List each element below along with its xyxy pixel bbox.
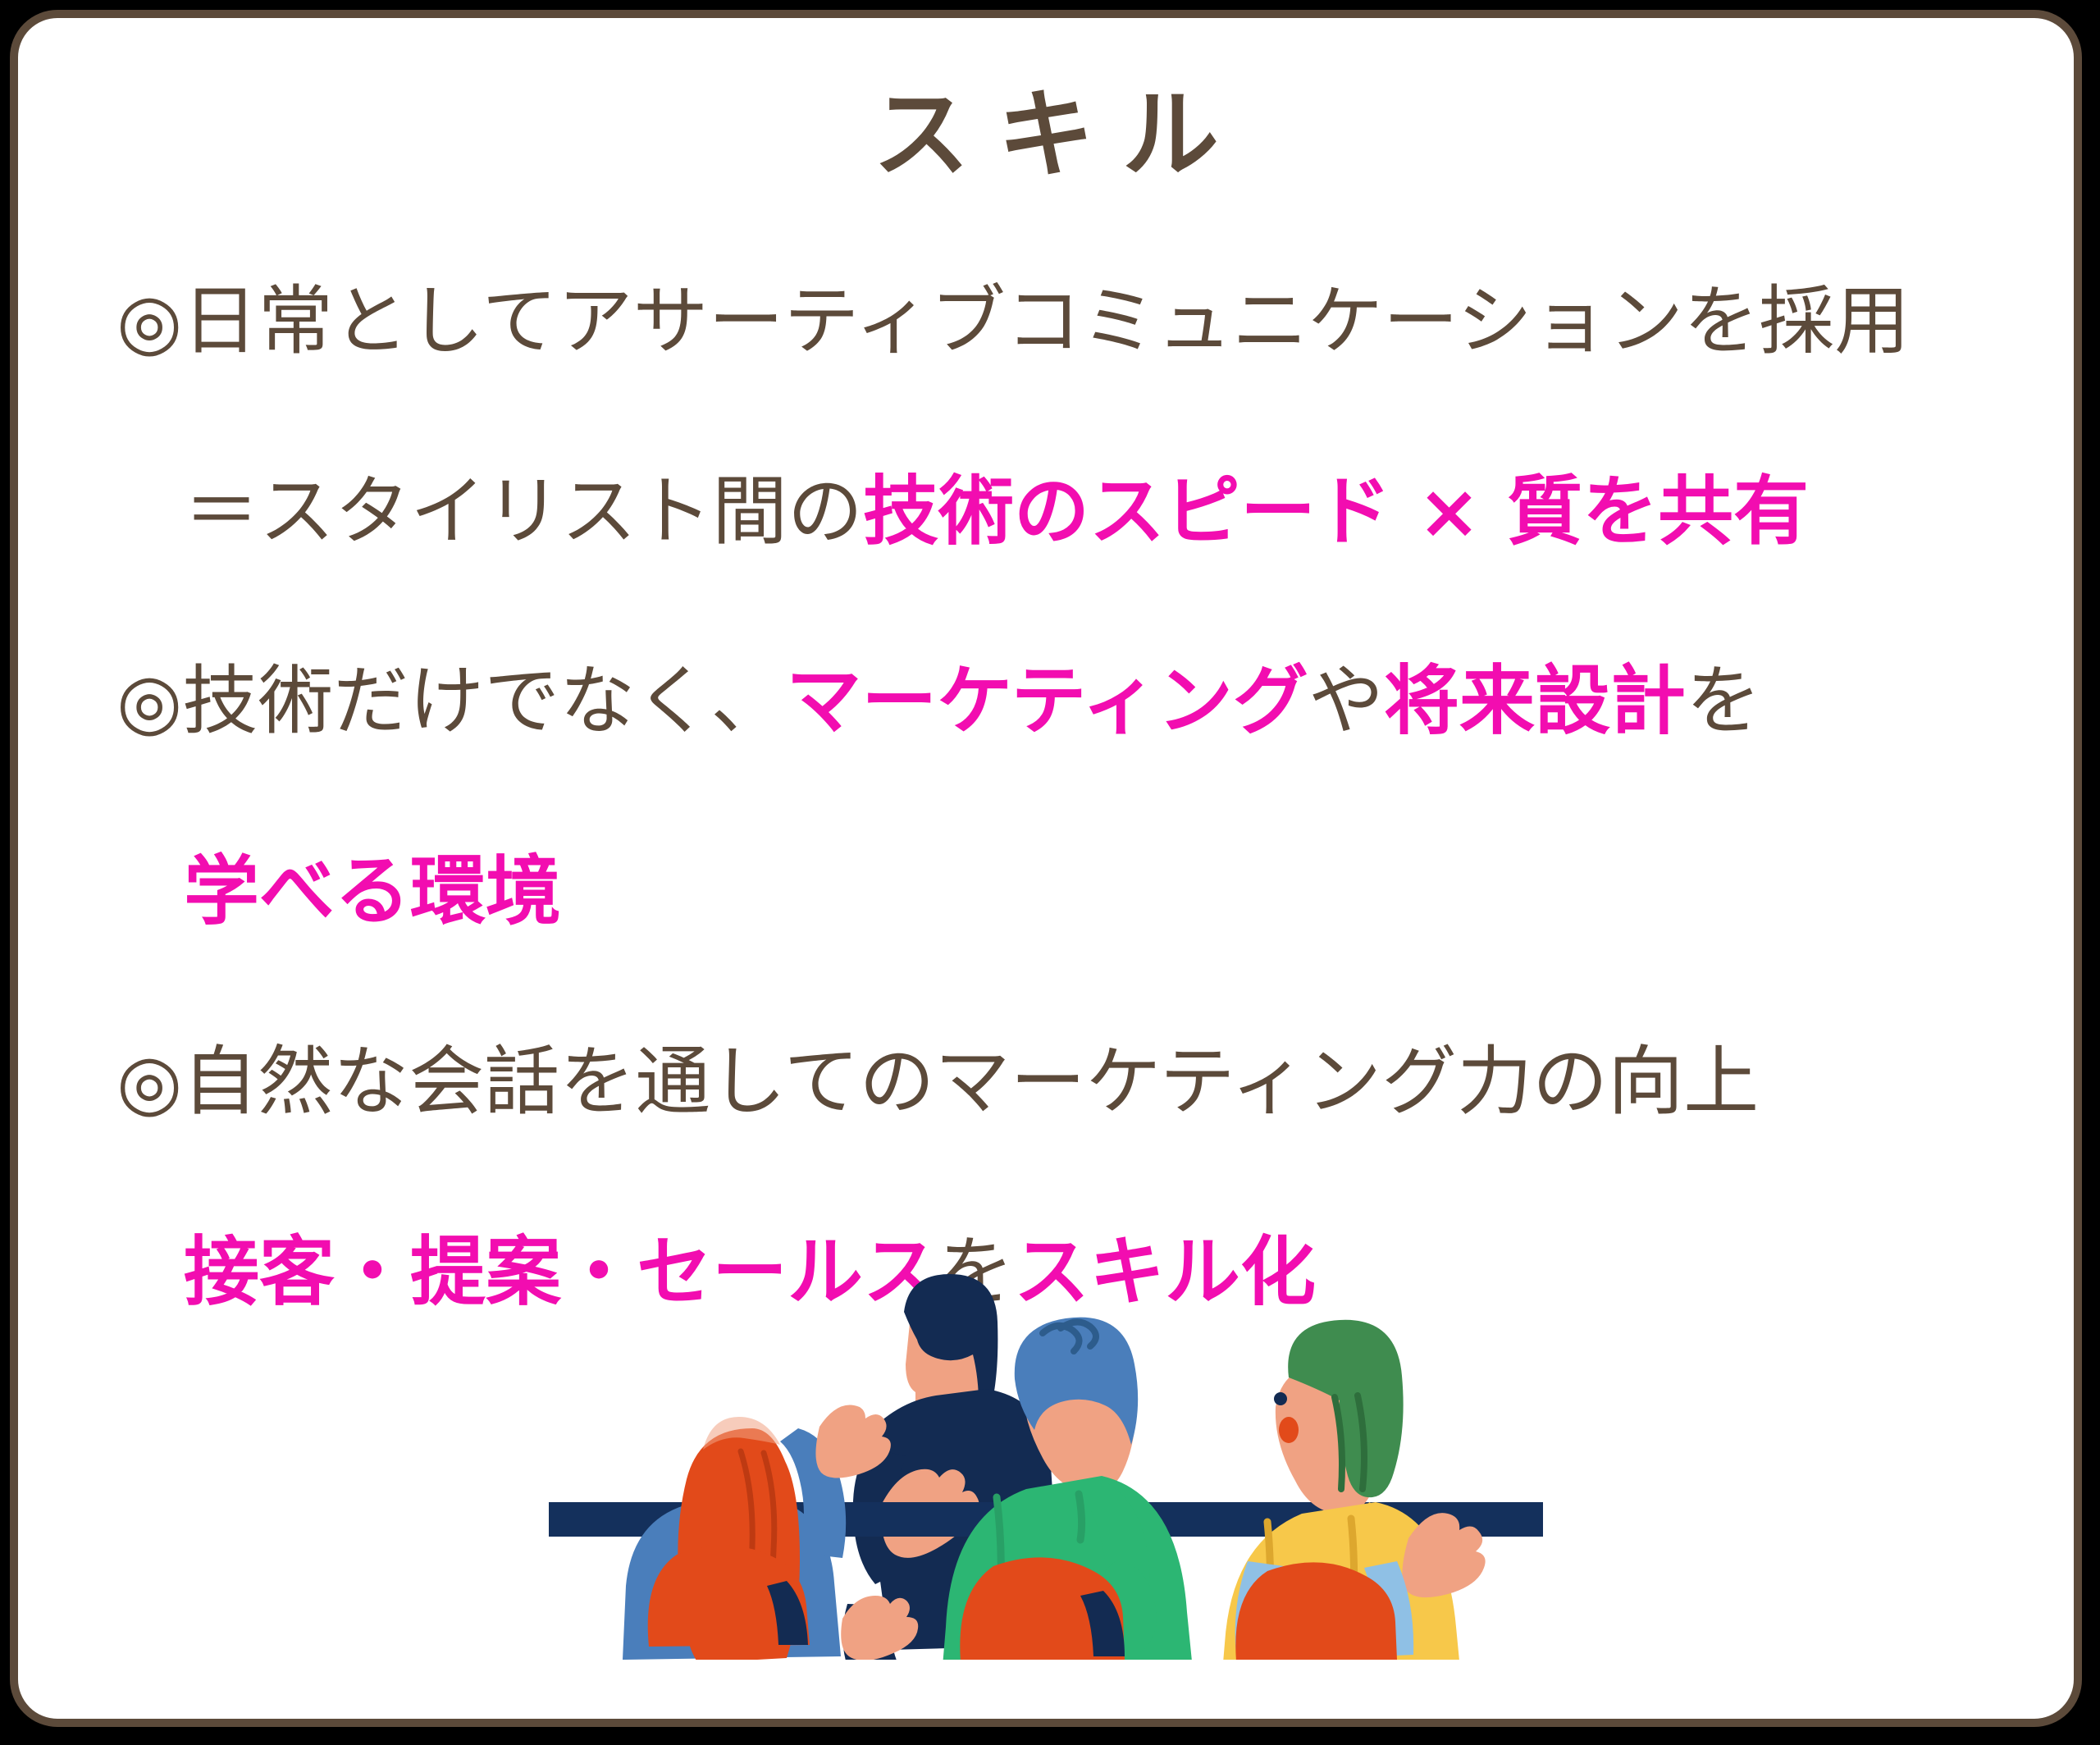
highlighted-text: 学べる環境 xyxy=(184,847,561,935)
group-discussion-illustration xyxy=(537,1233,1554,1660)
plain-text: ◎技術だけでなく、 xyxy=(116,657,786,745)
highlighted-text: マーケティング xyxy=(786,657,1308,745)
plain-text: ◎自然な会話を通してのマーケティング力の向上 xyxy=(116,1038,1759,1126)
bullet-line: ◎自然な会話を通してのマーケティング力の向上 xyxy=(116,1025,2016,1140)
highlighted-text: 将来設計 xyxy=(1384,657,1686,745)
slide-card: スキル ◎日常としてアサーティブコミュニケーションを採用＝スタイリスト間の技術の… xyxy=(10,10,2082,1727)
illustration-container xyxy=(18,1233,2074,1660)
bullet-line: ◎技術だけでなく、マーケティングや将来設計を xyxy=(116,644,2016,759)
bullet-line: 学べる環境 xyxy=(116,834,2016,949)
plain-text: を xyxy=(1686,657,1761,745)
page-title: スキル xyxy=(18,82,2074,189)
highlighted-text: 技術のスピード × 質を共有 xyxy=(863,468,1809,555)
bullet-line: ＝スタイリスト間の技術のスピード × 質を共有 xyxy=(116,455,2016,569)
plain-text: や xyxy=(1308,657,1384,745)
bullet-line: ◎日常としてアサーティブコミュニケーションを採用 xyxy=(116,264,2016,379)
bullet-list: ◎日常としてアサーティブコミュニケーションを採用＝スタイリスト間の技術のスピード… xyxy=(18,264,2074,1330)
plain-text: ◎日常としてアサーティブコミュニケーションを採用 xyxy=(116,277,1910,365)
plain-text: ＝スタイリスト間の xyxy=(184,468,863,555)
